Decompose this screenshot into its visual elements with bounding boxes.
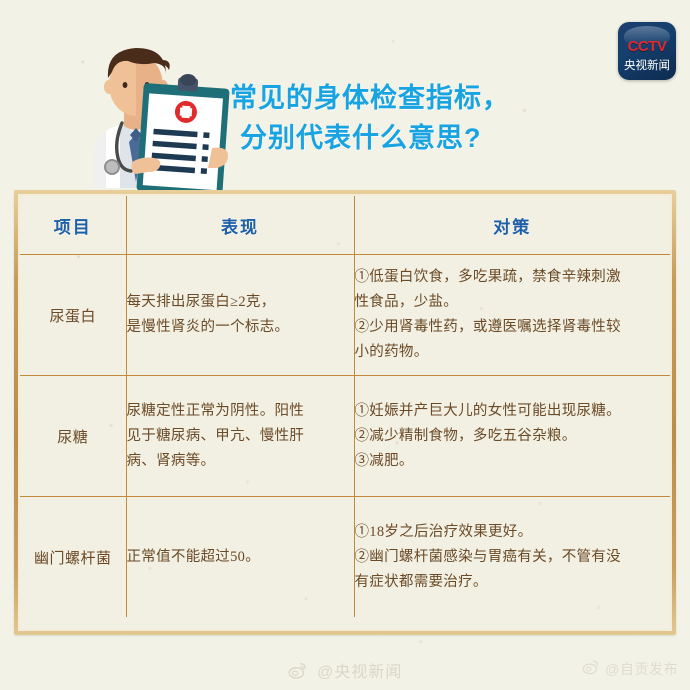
table-header-row: 项目 表现 对策	[20, 196, 670, 255]
row-item-name: 幽门螺杆菌	[20, 497, 126, 618]
table-row: 尿蛋白 每天排出尿蛋白≥2克，是慢性肾炎的一个标志。 ①低蛋白饮食，多吃果疏，禁…	[20, 255, 670, 376]
health-indicators-table: 项目 表现 对策 尿蛋白 每天排出尿蛋白≥2克，是慢性肾炎的一个标志。 ①低蛋白…	[20, 196, 670, 617]
weibo-icon	[288, 661, 307, 685]
title-line-2: 分别代表什么意思?	[230, 118, 590, 158]
column-header-manifestation: 表现	[126, 196, 354, 255]
row-countermeasure: ①低蛋白饮食，多吃果疏，禁食辛辣刺激性食品，少盐。②少用肾毒性药，或遵医嘱选择肾…	[354, 255, 670, 376]
row-manifestation: 尿糖定性正常为阴性。阳性见于糖尿病、甲亢、慢性肝病、肾病等。	[126, 376, 354, 497]
weibo-watermark-right: @自贡发布	[582, 659, 678, 679]
weibo-handle-center: @央视新闻	[317, 664, 402, 681]
column-header-countermeasure: 对策	[354, 196, 670, 255]
table-row: 幽门螺杆菌 正常值不能超过50。 ①18岁之后治疗效果更好。②幽门螺杆菌感染与胃…	[20, 497, 670, 618]
row-item-name: 尿糖	[20, 376, 126, 497]
cctv-sub-label: 央视新闻	[618, 60, 676, 73]
cctv-news-logo: CCTV 央视新闻	[618, 22, 676, 80]
table-inner-surface: 项目 表现 对策 尿蛋白 每天排出尿蛋白≥2克，是慢性肾炎的一个标志。 ①低蛋白…	[18, 194, 672, 631]
weibo-handle-right: @自贡发布	[605, 661, 678, 677]
weibo-icon	[582, 659, 599, 679]
poster-header: CCTV 央视新闻 常见的身体检查指标， 分别代表什么意思?	[0, 0, 690, 190]
row-manifestation: 正常值不能超过50。	[126, 497, 354, 618]
table-frame: 项目 表现 对策 尿蛋白 每天排出尿蛋白≥2克，是慢性肾炎的一个标志。 ①低蛋白…	[14, 190, 676, 635]
title-line-1: 常见的身体检查指标，	[230, 78, 590, 118]
row-countermeasure: ①妊娠并产巨大儿的女性可能出现尿糖。②减少精制食物，多吃五谷杂粮。③减肥。	[354, 376, 670, 497]
page-title: 常见的身体检查指标， 分别代表什么意思?	[230, 78, 590, 158]
doctor-illustration	[36, 30, 236, 190]
row-manifestation: 每天排出尿蛋白≥2克，是慢性肾炎的一个标志。	[126, 255, 354, 376]
column-header-item: 项目	[20, 196, 126, 255]
row-countermeasure: ①18岁之后治疗效果更好。②幽门螺杆菌感染与胃癌有关，不管有没有症状都需要治疗。	[354, 497, 670, 618]
row-item-name: 尿蛋白	[20, 255, 126, 376]
table-row: 尿糖 尿糖定性正常为阴性。阳性见于糖尿病、甲亢、慢性肝病、肾病等。 ①妊娠并产巨…	[20, 376, 670, 497]
cctv-wordmark: CCTV	[618, 39, 676, 55]
